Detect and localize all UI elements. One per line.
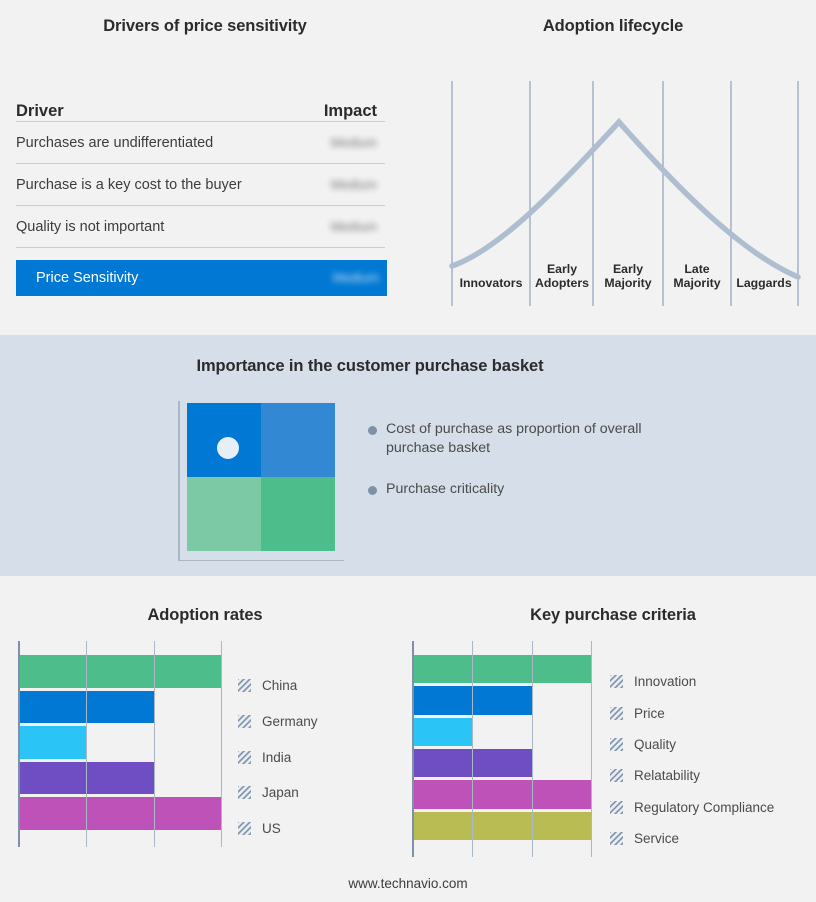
lifecycle-stage-labels: Innovators EarlyAdopters EarlyMajority L…: [430, 81, 802, 306]
key-purchase-criteria-title: Key purchase criteria: [410, 606, 816, 625]
stage-label-early-majority: EarlyMajority: [588, 262, 668, 290]
bar-service: [414, 812, 592, 840]
impact-value-redacted: Medium: [295, 177, 385, 193]
bar-india: [20, 726, 87, 759]
legend-label: Relatability: [634, 768, 700, 783]
stage-label-laggards: Laggards: [725, 276, 803, 290]
bar-us: [20, 797, 222, 830]
hatch-swatch-icon: [610, 675, 623, 688]
hatch-swatch-icon: [610, 738, 623, 751]
bar-quality: [414, 718, 473, 746]
hatch-swatch-icon: [610, 769, 623, 782]
drivers-table: Driver Impact Purchases are undifferenti…: [16, 91, 385, 296]
quadrant-matrix: [178, 401, 344, 561]
bullet-dot-icon: [368, 486, 377, 495]
driver-label: Purchases are undifferentiated: [16, 135, 295, 151]
legend-item: Japan: [238, 785, 299, 800]
gridline: [221, 641, 222, 847]
adoption-lifecycle-panel: Adoption lifecycle Innovators: [410, 0, 816, 335]
bar-japan: [20, 762, 155, 795]
legend-label: China: [262, 678, 297, 693]
impact-value-redacted: Medium: [295, 219, 385, 235]
adoption-lifecycle-title: Adoption lifecycle: [410, 17, 816, 36]
legend-item: Quality: [610, 737, 676, 752]
driver-label: Quality is not important: [16, 219, 295, 235]
bar-regulatory-compliance: [414, 780, 592, 808]
gridline: [532, 641, 533, 857]
bar-germany: [20, 691, 155, 724]
legend-item: India: [238, 750, 291, 765]
legend-item: Regulatory Compliance: [610, 800, 774, 815]
drivers-panel: Drivers of price sensitivity Driver Impa…: [0, 0, 410, 335]
hatch-swatch-icon: [610, 832, 623, 845]
hatch-swatch-icon: [238, 751, 251, 764]
matrix-x-axis: [178, 560, 344, 562]
bottom-section: Adoption rates ChinaGermanyIndiaJapanUS …: [0, 576, 816, 902]
table-row: Quality is not important Medium: [16, 206, 385, 247]
adoption-rates-panel: Adoption rates ChinaGermanyIndiaJapanUS: [0, 576, 410, 902]
impact-value-redacted: Medium: [295, 135, 385, 151]
table-divider: [16, 247, 385, 248]
legend-label: Germany: [262, 714, 318, 729]
legend-item: Innovation: [610, 674, 696, 689]
legend-label: India: [262, 750, 291, 765]
table-row: Purchase is a key cost to the buyer Medi…: [16, 164, 385, 205]
column-header-impact: Impact: [295, 102, 385, 121]
quadrant-bottom-right: [261, 477, 335, 551]
footer-url: www.technavio.com: [0, 876, 816, 891]
legend-item: Relatability: [610, 768, 700, 783]
infographic-page: Drivers of price sensitivity Driver Impa…: [0, 0, 816, 902]
hatch-swatch-icon: [238, 786, 251, 799]
hatch-swatch-icon: [238, 822, 251, 835]
legend-item: Service: [610, 831, 679, 846]
price-sensitivity-summary-row: Price Sensitivity Medium: [16, 260, 387, 296]
hatch-swatch-icon: [238, 715, 251, 728]
purchase-basket-title: Importance in the customer purchase bask…: [0, 357, 740, 376]
bar-relatability: [414, 749, 533, 777]
matrix-y-axis: [178, 401, 180, 561]
bar-china: [20, 655, 222, 688]
legend-label: Japan: [262, 785, 299, 800]
quadrant-top-right: [261, 403, 335, 477]
driver-label: Purchase is a key cost to the buyer: [16, 177, 295, 193]
key-purchase-criteria-plot: [412, 641, 592, 857]
table-row: Purchases are undifferentiated Medium: [16, 122, 385, 163]
legend-item: US: [238, 821, 281, 836]
legend-item: Purchase criticality: [368, 480, 668, 499]
column-header-driver: Driver: [16, 102, 295, 121]
legend-label: Regulatory Compliance: [634, 800, 774, 815]
legend-label: Purchase criticality: [386, 480, 504, 499]
legend-label: Price: [634, 706, 665, 721]
gridline: [591, 641, 592, 857]
hatch-swatch-icon: [610, 707, 623, 720]
adoption-rates-plot: [18, 641, 222, 847]
bullet-dot-icon: [368, 426, 377, 435]
top-section: Drivers of price sensitivity Driver Impa…: [0, 0, 816, 335]
legend-item: Cost of purchase as proportion of overal…: [368, 420, 668, 458]
price-sensitivity-label: Price Sensitivity: [16, 270, 297, 286]
legend-label: Cost of purchase as proportion of overal…: [386, 420, 646, 458]
legend-label: US: [262, 821, 281, 836]
drivers-title: Drivers of price sensitivity: [0, 17, 410, 36]
gridline: [472, 641, 473, 857]
legend-item: Germany: [238, 714, 318, 729]
hatch-swatch-icon: [610, 801, 623, 814]
hatch-swatch-icon: [238, 679, 251, 692]
purchase-basket-section: Importance in the customer purchase bask…: [0, 335, 816, 576]
drivers-table-header: Driver Impact: [16, 91, 385, 121]
matrix-quadrants: [187, 403, 335, 551]
adoption-rates-legend: ChinaGermanyIndiaJapanUS: [238, 656, 398, 836]
key-purchase-criteria-legend: InnovationPriceQualityRelatabilityRegula…: [610, 654, 810, 854]
bar-group: [20, 641, 222, 847]
position-marker-dot: [217, 437, 239, 459]
gridline: [154, 641, 155, 847]
legend-item: China: [238, 678, 297, 693]
price-sensitivity-impact-redacted: Medium: [297, 270, 387, 286]
quadrant-bottom-left: [187, 477, 261, 551]
legend-label: Quality: [634, 737, 676, 752]
adoption-rates-title: Adoption rates: [0, 606, 410, 625]
bar-price: [414, 686, 533, 714]
key-purchase-criteria-panel: Key purchase criteria InnovationPriceQua…: [410, 576, 816, 902]
gridline: [86, 641, 87, 847]
legend-item: Price: [610, 706, 665, 721]
legend-label: Innovation: [634, 674, 696, 689]
purchase-basket-legend: Cost of purchase as proportion of overal…: [368, 420, 668, 521]
bar-innovation: [414, 655, 592, 683]
bar-group: [414, 641, 592, 857]
legend-label: Service: [634, 831, 679, 846]
